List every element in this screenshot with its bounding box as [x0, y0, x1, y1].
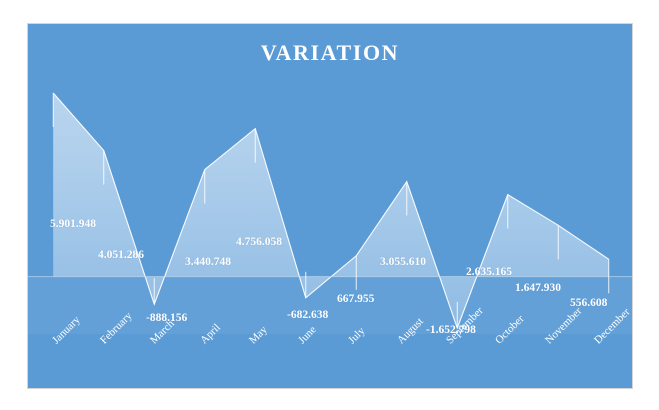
plot-area[interactable]: 5.901.9484.051.286-888.1563.440.7484.756… [28, 79, 633, 334]
category-label-june: June [296, 324, 319, 347]
data-value-label: 5.901.948 [50, 218, 96, 230]
data-value-label: 4.756.058 [236, 236, 282, 248]
category-label-january: January [50, 314, 83, 347]
category-label-february: February [98, 310, 135, 347]
category-label-november: November [543, 305, 584, 346]
category-label-may: May [247, 324, 270, 347]
area-chart-svg [28, 79, 633, 334]
data-value-label: 2.635.165 [466, 266, 512, 278]
category-label-august: August [395, 316, 426, 347]
chart-title: VARIATION [28, 40, 632, 66]
category-axis: JanuaryFebruaryMarchAprilMayJuneJulyAugu… [28, 312, 633, 389]
category-label-april: April [198, 322, 223, 347]
category-label-december: December [592, 306, 632, 346]
data-value-label: 3.440.748 [185, 256, 231, 268]
category-label-october: October [493, 313, 527, 347]
chart-container[interactable]: VARIATION [27, 23, 633, 389]
category-label-july: July [346, 325, 367, 346]
data-value-label: 1.647.930 [515, 282, 561, 294]
category-label-march: March [148, 318, 177, 347]
data-value-label: 3.055.610 [380, 256, 426, 268]
data-value-label: 667.955 [337, 293, 374, 305]
data-value-label: 4.051.286 [98, 249, 144, 261]
